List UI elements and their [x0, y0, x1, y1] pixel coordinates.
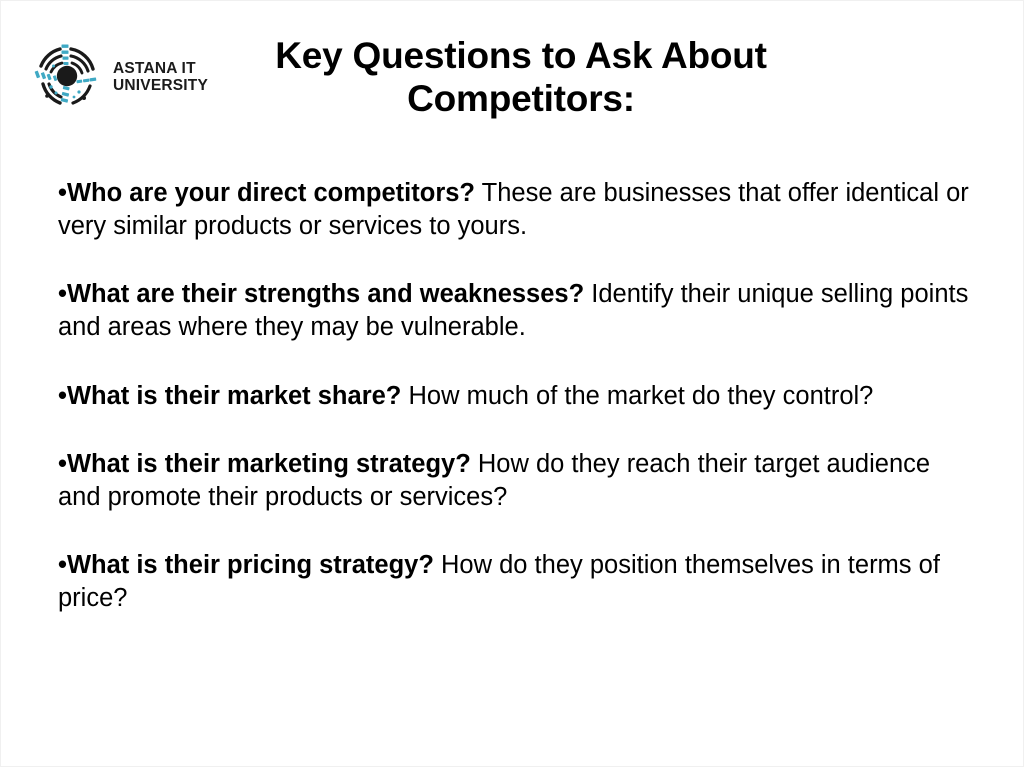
list-item: •What is their marketing strategy? How d…: [58, 448, 970, 514]
bullet-marker: •: [58, 382, 67, 410]
page-title-line-2: Competitors:: [151, 77, 891, 120]
bullet-list: •Who are your direct competitors? These …: [58, 177, 970, 615]
page-title-line-1: Key Questions to Ask About: [151, 34, 891, 77]
bullet-marker: •: [58, 450, 67, 478]
circular-dashed-arcs-icon: [27, 36, 107, 116]
list-item: •What are their strengths and weaknesses…: [58, 278, 970, 344]
list-item: •What is their pricing strategy? How do …: [58, 549, 970, 615]
page-title: Key Questions to Ask About Competitors:: [151, 34, 891, 121]
bullet-question: What are their strengths and weaknesses?: [67, 280, 584, 308]
bullet-question: What is their market share?: [67, 382, 401, 410]
bullet-question: Who are your direct competitors?: [67, 179, 475, 207]
slide-header: ASTANA IT UNIVERSITY Key Questions to As…: [1, 1, 1024, 141]
bullet-marker: •: [58, 551, 67, 579]
bullet-question: What is their pricing strategy?: [67, 551, 434, 579]
bullet-marker: •: [58, 179, 67, 207]
list-item: •Who are your direct competitors? These …: [58, 177, 970, 243]
bullet-marker: •: [58, 280, 67, 308]
bullet-answer: How much of the market do they control?: [401, 382, 873, 410]
bullet-question: What is their marketing strategy?: [67, 450, 471, 478]
presentation-slide: ASTANA IT UNIVERSITY Key Questions to As…: [0, 0, 1024, 767]
list-item: •What is their market share? How much of…: [58, 380, 970, 413]
